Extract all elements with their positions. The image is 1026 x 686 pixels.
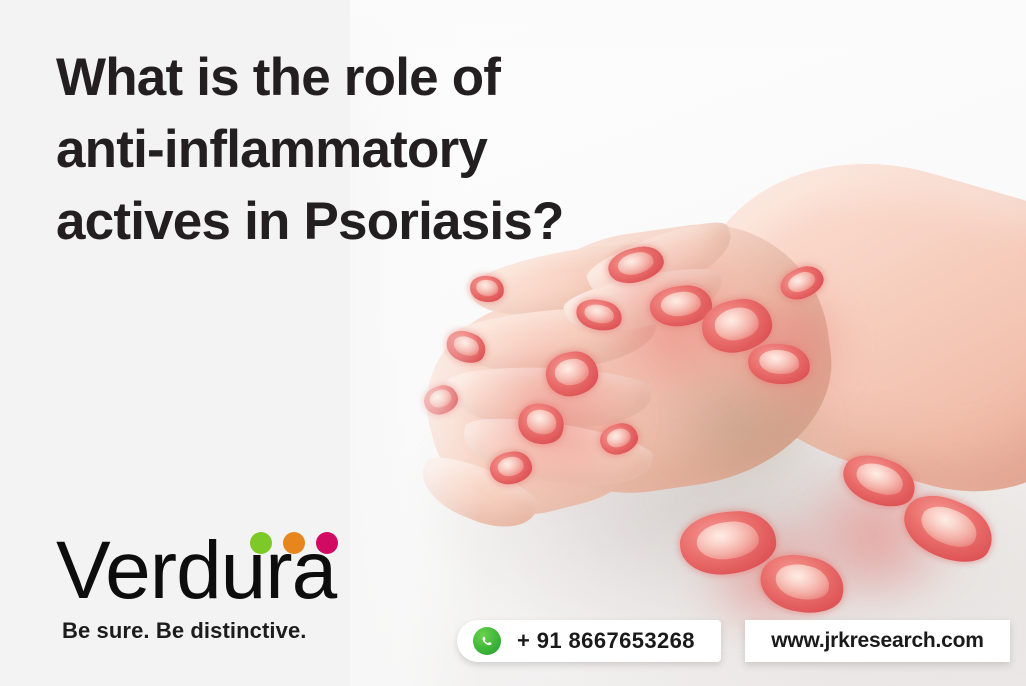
page-title: What is the role of anti-inflammatory ac… — [56, 42, 696, 258]
logo-wordmark: Verdura — [56, 528, 336, 614]
whatsapp-icon — [473, 627, 501, 655]
website-box[interactable]: www.jrkresearch.com — [745, 620, 1010, 662]
verdura-logo: Verdura Be sure. Be distinctive. — [56, 528, 336, 644]
poster-canvas: What is the role of anti-inflammatory ac… — [0, 0, 1026, 686]
website-url: www.jrkresearch.com — [771, 629, 984, 653]
phone-number: + 91 8667653268 — [517, 628, 695, 654]
whatsapp-contact-pill[interactable]: + 91 8667653268 — [457, 620, 721, 662]
logo-tagline: Be sure. Be distinctive. — [62, 618, 336, 644]
